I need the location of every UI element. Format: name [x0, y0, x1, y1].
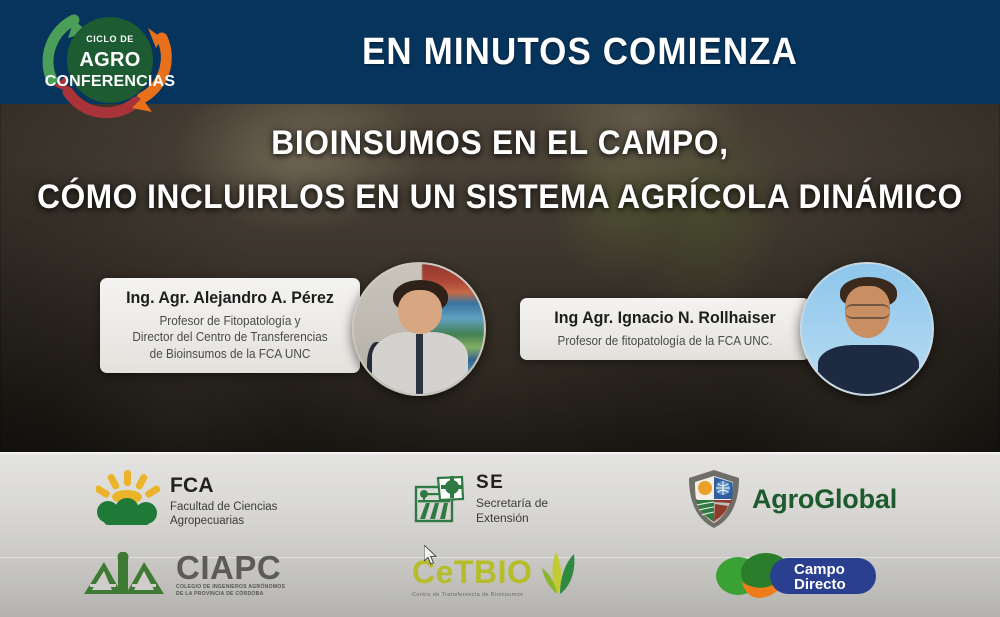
sponsor-panel: FCA Facultad de Ciencias Agropecuarias [0, 452, 1000, 617]
cetbio-subtitle: Centro de Transferencia de Bioinsumos [412, 592, 532, 598]
speaker-1-photo [352, 262, 486, 396]
fca-text: FCA Facultad de Ciencias Agropecuarias [170, 474, 277, 529]
speaker-2-photo [800, 262, 934, 396]
speaker-1-role: Profesor de Fitopatología y Director del… [123, 313, 337, 363]
ciapc-text: CIAPC COLEGIO DE INGENIEROS AGRÓNOMOS DE… [176, 552, 285, 598]
speaker-2-card: Ing Agr. Ignacio N. Rollhaiser Profesor … [520, 298, 810, 360]
speaker-1-name: Ing. Agr. Alejandro A. Pérez [123, 288, 337, 308]
agroglobal-title: AgroGlobal [752, 484, 897, 515]
panel-top-highlight [0, 452, 1000, 455]
logo-line1: CICLO DE [86, 34, 134, 44]
ciapc-title: CIAPC [176, 552, 285, 583]
se-subtitle: Secretaría de Extensión [476, 496, 548, 526]
sponsor-logo-fca[interactable]: FCA Facultad de Ciencias Agropecuarias [96, 470, 277, 532]
title-line-1: BIOINSUMOS EN EL CAMPO, [35, 126, 965, 160]
se-text: SE Secretaría de Extensión [476, 472, 548, 526]
sponsor-logo-campodirecto[interactable]: Campo Directo [708, 552, 880, 600]
fca-subtitle: Facultad de Ciencias Agropecuarias [170, 500, 277, 529]
title-line-2: CÓMO INCLUIRLOS EN UN SISTEMA AGRÍCOLA D… [35, 180, 965, 214]
ciapc-icon [82, 552, 166, 598]
fca-icon [96, 470, 160, 532]
logo-line2: AGRO [79, 49, 140, 71]
sponsor-logo-agroglobal[interactable]: AgroGlobal [686, 468, 897, 530]
logo-line3: CONFERENCIAS [45, 73, 176, 90]
sponsor-logo-se[interactable]: SE Secretaría de Extensión [414, 472, 548, 526]
sponsor-logo-ciapc[interactable]: CIAPC COLEGIO DE INGENIEROS AGRÓNOMOS DE… [82, 552, 285, 598]
campodirecto-icon: Campo Directo [708, 552, 880, 600]
banner-text: EN MINUTOS COMIENZA [230, 0, 929, 104]
mouse-pointer [424, 545, 440, 567]
se-title: SE [476, 472, 548, 494]
presentation-slide: EN MINUTOS COMIENZA CICLO DE AGRO CONFER… [0, 0, 1000, 617]
speaker-1-card: Ing. Agr. Alejandro A. Pérez Profesor de… [100, 278, 360, 373]
ciapc-subtitle: COLEGIO DE INGENIEROS AGRÓNOMOS DE LA PR… [176, 584, 285, 598]
fca-title: FCA [170, 474, 277, 498]
speaker-2-role: Profesor de fitopatología de la FCA UNC. [544, 333, 787, 350]
agroglobal-text: AgroGlobal [752, 484, 897, 515]
speaker-2-name: Ing Agr. Ignacio N. Rollhaiser [544, 308, 787, 328]
campodirecto-line2: Directo [794, 576, 846, 593]
agroglobal-shield-icon [686, 468, 742, 530]
cetbio-leaf-icon [536, 550, 584, 596]
ciclo-agro-conferencias-logo: CICLO DE AGRO CONFERENCIAS [22, 0, 192, 122]
page-title: BIOINSUMOS EN EL CAMPO, CÓMO INCLUIRLOS … [35, 126, 965, 214]
se-icon [414, 473, 466, 525]
